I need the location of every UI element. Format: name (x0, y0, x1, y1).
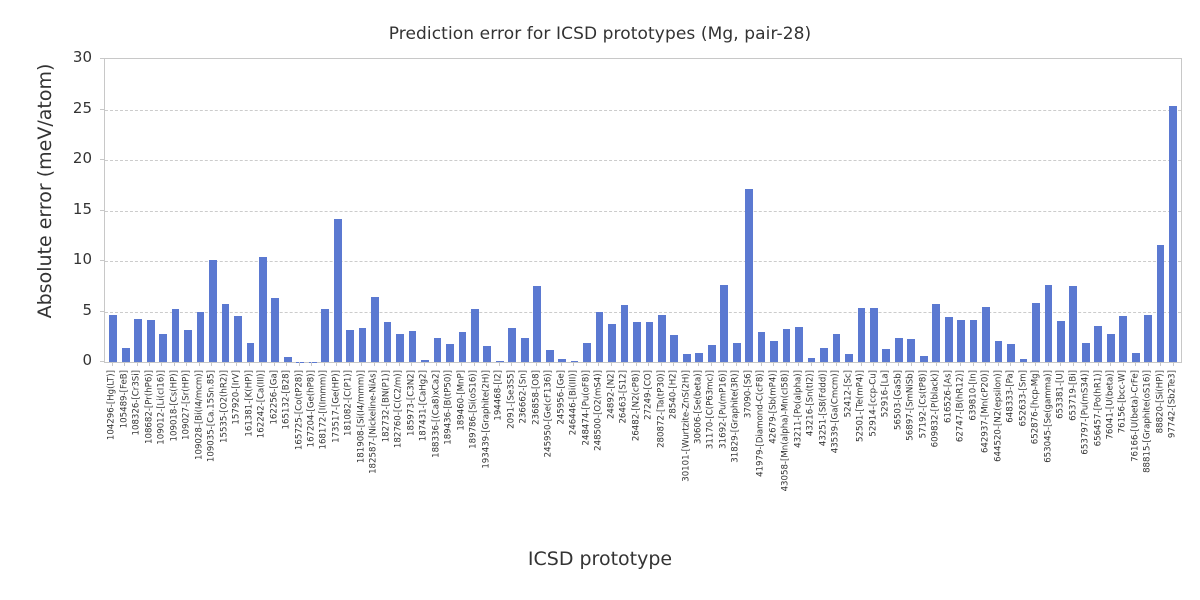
x-tick-mark (424, 362, 425, 366)
bar[interactable] (1082, 343, 1090, 362)
bar[interactable] (895, 338, 903, 362)
bar[interactable] (658, 315, 666, 362)
x-tick-mark (936, 362, 937, 366)
x-tick-slot: 245950-[Ge(cF136)] (543, 366, 555, 546)
bar-slot[interactable] (1154, 59, 1166, 362)
bar-slot[interactable] (706, 59, 718, 362)
x-tick-slot: 109012-[Li(cI16)] (156, 366, 168, 546)
x-tick-mark (411, 362, 412, 366)
bar[interactable] (870, 308, 878, 362)
bar[interactable] (820, 348, 828, 362)
bar-slot[interactable] (381, 59, 393, 362)
plot-area (104, 58, 1182, 363)
bar[interactable] (434, 338, 442, 362)
bar[interactable] (508, 328, 516, 362)
bar[interactable] (633, 322, 641, 362)
x-tick-slot: 2091-[Se3S5] (506, 366, 518, 546)
x-tick-mark (436, 362, 437, 366)
x-tick-mark (549, 362, 550, 366)
bar-slot[interactable] (843, 59, 855, 362)
bar[interactable] (982, 307, 990, 362)
bar[interactable] (1007, 344, 1015, 362)
bar[interactable] (558, 359, 566, 362)
bar-slot[interactable] (194, 59, 206, 362)
y-tick-label: 10 (32, 250, 92, 268)
x-tick-mark (1110, 362, 1111, 366)
bar-slot[interactable] (743, 59, 755, 362)
bar-slot[interactable] (307, 59, 319, 362)
x-tick-mark (861, 362, 862, 366)
bar[interactable] (459, 332, 467, 362)
bar-slot[interactable] (1129, 59, 1141, 362)
bar-slot[interactable] (593, 59, 605, 362)
bar[interactable] (1045, 285, 1053, 362)
bar[interactable] (845, 354, 853, 362)
bar[interactable] (733, 343, 741, 362)
x-tick-label: 2091-[Se3S5] (507, 370, 516, 429)
bar[interactable] (209, 260, 217, 362)
x-tick-label: 280872-[Ta(tP30)] (657, 370, 666, 448)
x-tick-mark (1098, 362, 1099, 366)
bar-slot[interactable] (144, 59, 156, 362)
x-tick-label: 109012-[Li(cI16)] (158, 370, 167, 445)
bar-slot[interactable] (818, 59, 830, 362)
bar-slot[interactable] (1105, 59, 1117, 362)
x-tick-label: 182732-[BN(P1)] (383, 370, 392, 442)
bar[interactable] (122, 348, 130, 362)
bar[interactable] (1057, 321, 1065, 362)
x-tick-label: 108326-[Cr3Si] (133, 370, 142, 435)
x-tick-slot: 653797-[Pu(mS34)] (1080, 366, 1092, 546)
bar-slot[interactable] (868, 59, 880, 362)
bar[interactable] (1032, 303, 1040, 362)
bar[interactable] (172, 309, 180, 362)
bar[interactable] (296, 362, 304, 363)
x-tick-mark (1048, 362, 1049, 366)
bar[interactable] (259, 257, 267, 362)
x-tick-mark (686, 362, 687, 366)
bar-slot[interactable] (693, 59, 705, 362)
x-tick-label: 15535-[O2(hR2)] (220, 370, 229, 443)
bar[interactable] (1132, 353, 1140, 362)
x-tick-slot: 30606-[Se(beta)] (693, 366, 705, 546)
x-tick-label: 642937-[Mn(cP20)] (982, 370, 991, 453)
bar[interactable] (758, 332, 766, 362)
x-tick-slot: 157920-[IrV] (231, 366, 243, 546)
bar[interactable] (720, 285, 728, 362)
bar-slot[interactable] (955, 59, 967, 362)
bar[interactable] (571, 361, 579, 362)
bar-slot[interactable] (506, 59, 518, 362)
bar-slot[interactable] (344, 59, 356, 362)
bar-slot[interactable] (107, 59, 119, 362)
x-tick-label: 26482-[N2(cP8)] (632, 370, 641, 441)
x-tick-mark (236, 362, 237, 366)
x-tick-slot: 185973-[C3N2] (406, 366, 418, 546)
bar[interactable] (995, 341, 1003, 362)
bar-slot[interactable] (232, 59, 244, 362)
bar[interactable] (334, 219, 342, 362)
bar-slot[interactable] (556, 59, 568, 362)
bar[interactable] (745, 189, 753, 362)
x-tick-mark (1035, 362, 1036, 366)
bar-slot[interactable] (244, 59, 256, 362)
bar-slot[interactable] (494, 59, 506, 362)
x-tick-label: 181908-[Si(I4/mmm)] (358, 370, 367, 463)
bar[interactable] (247, 343, 255, 362)
x-tick-slot: 182587-[Nickeline-NiAs] (368, 366, 380, 546)
bar-slot[interactable] (1167, 59, 1179, 362)
bar[interactable] (833, 334, 841, 362)
bar[interactable] (683, 354, 691, 362)
bar[interactable] (271, 298, 279, 362)
x-tick-slot: 188336-[(Ca8)xCa2] (431, 366, 443, 546)
x-tick-slot: 642937-[Mn(cP20)] (980, 366, 992, 546)
x-tick-label: 52916-[La] (882, 370, 891, 417)
x-tick-label: 248500-[O2(mS4)] (595, 370, 604, 451)
bar-slot[interactable] (444, 59, 456, 362)
y-tick-label: 0 (32, 351, 92, 369)
x-tick-mark (1023, 362, 1024, 366)
x-tick-mark (124, 362, 125, 366)
bar-slot[interactable] (656, 59, 668, 362)
bar[interactable] (147, 320, 155, 362)
bar-slot[interactable] (119, 59, 131, 362)
bar-slot[interactable] (1055, 59, 1067, 362)
bar-slot[interactable] (718, 59, 730, 362)
x-tick-label: 182760-[C(C2/m)] (395, 370, 404, 448)
y-tick-label: 15 (32, 200, 92, 218)
bar[interactable] (222, 304, 230, 362)
bar-slot[interactable] (469, 59, 481, 362)
bar-slot[interactable] (1142, 59, 1154, 362)
x-tick-slot: 97742-[Sb2Te3] (1167, 366, 1179, 546)
bar-slot[interactable] (942, 59, 954, 362)
x-tick-label: 653719-[Bi] (1069, 370, 1078, 421)
bar-slot[interactable] (780, 59, 792, 362)
x-tick-mark (786, 362, 787, 366)
bar[interactable] (646, 322, 654, 362)
bar[interactable] (159, 334, 167, 362)
bar[interactable] (471, 309, 479, 362)
x-tick-mark (911, 362, 912, 366)
x-tick-slot: 182732-[BN(P1)] (381, 366, 393, 546)
bar-slot[interactable] (331, 59, 343, 362)
bar[interactable] (409, 331, 417, 362)
bar[interactable] (932, 304, 940, 362)
x-tick-mark (898, 362, 899, 366)
bar[interactable] (184, 330, 192, 362)
bar[interactable] (521, 338, 529, 362)
bar[interactable] (882, 349, 890, 362)
bar-slot[interactable] (631, 59, 643, 362)
x-tick-label: 43211-[Po(alpha)] (795, 370, 804, 448)
x-tick-label: 52914-[ccp-Cu] (869, 370, 878, 437)
bar-slot[interactable] (1042, 59, 1054, 362)
x-tick-label: 43251-[S8(Fddd)] (820, 370, 829, 446)
bar-slot[interactable] (406, 59, 418, 362)
x-tick-slot: 26482-[N2(cP8)] (630, 366, 642, 546)
bar-slot[interactable] (681, 59, 693, 362)
x-tick-slot: 108326-[Cr3Si] (131, 366, 143, 546)
bar[interactable] (396, 334, 404, 362)
bar-slot[interactable] (668, 59, 680, 362)
x-tick-slot: 37090-[S6] (743, 366, 755, 546)
x-tick-mark (274, 362, 275, 366)
bar[interactable] (483, 346, 491, 362)
bar[interactable] (596, 312, 604, 363)
bar[interactable] (109, 315, 117, 362)
bar[interactable] (446, 344, 454, 362)
bar-slot[interactable] (169, 59, 181, 362)
x-tick-slot: 248500-[O2(mS4)] (593, 366, 605, 546)
x-tick-mark (636, 362, 637, 366)
x-tick-mark (836, 362, 837, 366)
bar-slot[interactable] (893, 59, 905, 362)
bar-slot[interactable] (755, 59, 767, 362)
bar-slot[interactable] (481, 59, 493, 362)
x-tick-mark (112, 362, 113, 366)
x-tick-mark (161, 362, 162, 366)
bar[interactable] (309, 362, 317, 363)
bar[interactable] (708, 345, 716, 362)
bar-slot[interactable] (219, 59, 231, 362)
bar-slot[interactable] (930, 59, 942, 362)
bar[interactable] (384, 322, 392, 362)
bar[interactable] (496, 361, 504, 362)
x-tick-slot: 26463-[S12] (618, 366, 630, 546)
x-tick-label: 88815-[Graphite(oS16)] (1144, 370, 1153, 473)
bar[interactable] (546, 350, 554, 362)
bar-slot[interactable] (618, 59, 630, 362)
bar-slot[interactable] (730, 59, 742, 362)
x-tick-slot: 52916-[La] (880, 366, 892, 546)
x-tick-mark (361, 362, 362, 366)
x-tick-label: 62747-[B(hR12)] (957, 370, 966, 442)
x-tick-slot: 43211-[Po(alpha)] (793, 366, 805, 546)
bar-slot[interactable] (356, 59, 368, 362)
x-tick-label: 76156-[bcc-W] (1119, 370, 1128, 433)
bar-slot[interactable] (917, 59, 929, 362)
x-tick-label: 236662-[Sn] (520, 370, 529, 424)
bar[interactable] (858, 308, 866, 362)
x-tick-slot: 168172-[I(Immm)] (318, 366, 330, 546)
x-tick-label: 43058-[Mn(alpha)-Mn(cI58)] (782, 370, 791, 491)
bar-slot[interactable] (992, 59, 1004, 362)
x-tick-slot: 43539-[Ga(Cmcm)] (830, 366, 842, 546)
bar-slot[interactable] (643, 59, 655, 362)
x-tick-label: 57192-[Cs(tP8)] (919, 370, 928, 438)
bar[interactable] (957, 320, 965, 362)
bar-slot[interactable] (369, 59, 381, 362)
bar[interactable] (783, 329, 791, 362)
bar-slot[interactable] (1005, 59, 1017, 362)
bar[interactable] (346, 330, 354, 362)
bar-slot[interactable] (132, 59, 144, 362)
x-tick-slot: 194468-[I2] (493, 366, 505, 546)
x-tick-label: 109027-[Sr(HP)] (183, 370, 192, 440)
x-tick-mark (349, 362, 350, 366)
x-tick-label: 43539-[Ga(Cmcm)] (832, 370, 841, 453)
bar[interactable] (1157, 245, 1165, 362)
bar-slot[interactable] (431, 59, 443, 362)
x-tick-label: 43216-[Sn(tI2)] (807, 370, 816, 436)
x-tick-slot: 30101-[Wurtzite-ZnS(2H)] (680, 366, 692, 546)
x-tick-slot: 41979-[Diamond-C(cF8)] (755, 366, 767, 546)
bar-slot[interactable] (257, 59, 269, 362)
x-tick-label: 41979-[Diamond-C(cF8)] (757, 370, 766, 477)
bar-slot[interactable] (394, 59, 406, 362)
bar-slot[interactable] (1030, 59, 1042, 362)
x-tick-slot: 52501-[Te(mP4)] (855, 366, 867, 546)
x-tick-slot: 105489-[FeB] (118, 366, 130, 546)
bar[interactable] (1094, 326, 1102, 362)
x-tick-mark (923, 362, 924, 366)
x-tick-label: 245956-[Ge] (557, 370, 566, 425)
x-tick-mark (186, 362, 187, 366)
bar-slot[interactable] (282, 59, 294, 362)
x-tick-mark (386, 362, 387, 366)
x-tick-mark (1123, 362, 1124, 366)
x-tick-label: 653381-[U] (1057, 370, 1066, 419)
x-tick-slot: 43058-[Mn(alpha)-Mn(cI58)] (780, 366, 792, 546)
bar-slot[interactable] (880, 59, 892, 362)
x-tick-mark (623, 362, 624, 366)
x-tick-mark (336, 362, 337, 366)
bar[interactable] (284, 357, 292, 362)
bar[interactable] (583, 343, 591, 362)
x-tick-slot: 52412-[Sc] (843, 366, 855, 546)
x-tick-label: 188336-[(Ca8)xCa2] (433, 370, 442, 458)
bar-slot[interactable] (157, 59, 169, 362)
x-tick-label: 56503-[GaSb] (894, 370, 903, 430)
x-tick-label: 653797-[Pu(mS34)] (1082, 370, 1091, 455)
x-tick-mark (773, 362, 774, 366)
bar-slot[interactable] (768, 59, 780, 362)
bar[interactable] (1144, 315, 1152, 362)
x-tick-label: 97742-[Sb2Te3] (1169, 370, 1178, 438)
bar-slot[interactable] (207, 59, 219, 362)
bar[interactable] (421, 360, 429, 362)
x-tick-slot: 656457-[Po(hR1)] (1092, 366, 1104, 546)
x-tick-slot: 616526-[As] (942, 366, 954, 546)
x-tick-label: 652876-[hcp-Mg] (1032, 370, 1041, 444)
bar[interactable] (533, 286, 541, 362)
bar-slot[interactable] (518, 59, 530, 362)
bar-slot[interactable] (967, 59, 979, 362)
bar-slot[interactable] (805, 59, 817, 362)
x-tick-slot: 182760-[C(C2/m)] (393, 366, 405, 546)
x-tick-slot: 652876-[hcp-Mg] (1030, 366, 1042, 546)
x-tick-label: 24892-[N2] (607, 370, 616, 419)
bar[interactable] (670, 335, 678, 362)
bar-slot[interactable] (319, 59, 331, 362)
bar[interactable] (134, 319, 142, 362)
x-tick-slot: 76166-[U(beta)-CrFe] (1130, 366, 1142, 546)
x-tick-slot: 109018-[Cs(HP)] (168, 366, 180, 546)
x-tick-mark (648, 362, 649, 366)
bar-slot[interactable] (568, 59, 580, 362)
x-tick-mark (736, 362, 737, 366)
bar[interactable] (1169, 106, 1177, 362)
bar[interactable] (371, 297, 379, 362)
x-tick-label: 30101-[Wurtzite-ZnS(2H)] (682, 370, 691, 482)
bar[interactable] (945, 317, 953, 362)
x-tick-mark (261, 362, 262, 366)
bar-slot[interactable] (269, 59, 281, 362)
bar[interactable] (197, 312, 205, 363)
x-tick-slot: 15535-[O2(hR2)] (218, 366, 230, 546)
x-tick-slot: 88815-[Graphite(oS16)] (1142, 366, 1154, 546)
bar-slot[interactable] (419, 59, 431, 362)
bar[interactable] (321, 309, 329, 362)
bar-slot[interactable] (182, 59, 194, 362)
bar-slot[interactable] (543, 59, 555, 362)
x-tick-label: 173517-[Ge(HP)] (333, 370, 342, 443)
x-tick-slot: 31829-[Graphite(3R)] (730, 366, 742, 546)
x-tick-slot: 162256-[Ga] (268, 366, 280, 546)
bar[interactable] (970, 320, 978, 362)
x-tick-label: 27249-[CO] (645, 370, 654, 420)
x-tick-label: 56897-[SmNiSb] (907, 370, 916, 441)
x-tick-mark (948, 362, 949, 366)
bar[interactable] (907, 339, 915, 362)
bar[interactable] (234, 316, 242, 362)
bar-slot[interactable] (830, 59, 842, 362)
bar-slot[interactable] (905, 59, 917, 362)
bar[interactable] (621, 305, 629, 362)
x-tick-mark (573, 362, 574, 366)
bar-slot[interactable] (606, 59, 618, 362)
bar[interactable] (608, 324, 616, 362)
bar[interactable] (795, 327, 803, 362)
bar-slot[interactable] (1092, 59, 1104, 362)
x-tick-slot: 31692-[Pu(mP16)] (718, 366, 730, 546)
bar-slot[interactable] (1017, 59, 1029, 362)
x-tick-mark (586, 362, 587, 366)
x-tick-label: 162256-[Ga] (270, 370, 279, 425)
x-tick-slot: 653045-[Se(gamma)] (1042, 366, 1054, 546)
bar-slot[interactable] (294, 59, 306, 362)
x-tick-slot: 161381-[K(HP)] (243, 366, 255, 546)
bar-slot[interactable] (1080, 59, 1092, 362)
x-tick-slot: 644520-[N2(epsilon)] (992, 366, 1004, 546)
bar[interactable] (359, 328, 367, 362)
x-tick-label: 656457-[Po(hR1)] (1094, 370, 1103, 446)
x-tick-mark (761, 362, 762, 366)
bar-slot[interactable] (1117, 59, 1129, 362)
x-tick-mark (174, 362, 175, 366)
x-tick-slot: 109027-[Sr(HP)] (181, 366, 193, 546)
bar-slot[interactable] (855, 59, 867, 362)
x-tick-mark (1010, 362, 1011, 366)
bar-slot[interactable] (1067, 59, 1079, 362)
x-tick-slot: 109035-[Ca.15Sn.85] (206, 366, 218, 546)
bar-slot[interactable] (793, 59, 805, 362)
bar-slot[interactable] (531, 59, 543, 362)
x-tick-slot: 181082-[C(P1)] (343, 366, 355, 546)
bar[interactable] (695, 353, 703, 362)
bar[interactable] (770, 341, 778, 362)
bar[interactable] (1069, 286, 1077, 362)
x-tick-label: 639810-[In] (969, 370, 978, 421)
bar-slot[interactable] (456, 59, 468, 362)
bar[interactable] (1119, 316, 1127, 362)
x-tick-slot: 193439-[Graphite(2H)] (481, 366, 493, 546)
bar-slot[interactable] (581, 59, 593, 362)
bar-slot[interactable] (980, 59, 992, 362)
bar[interactable] (1107, 334, 1115, 362)
